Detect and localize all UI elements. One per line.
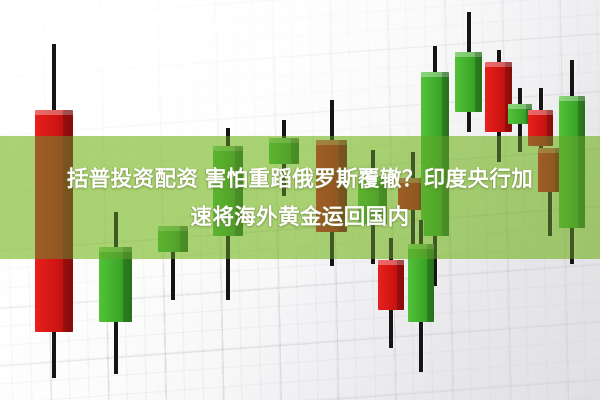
headline-line-1: 括普投资配资 害怕重蹈俄罗斯覆辙？印度央行加: [67, 167, 533, 191]
headline-overlay: 括普投资配资 害怕重蹈俄罗斯覆辙？印度央行加 速将海外黄金运回国内: [0, 160, 600, 236]
headline-line-2: 速将海外黄金运回国内: [0, 198, 600, 236]
banner-canvas: 括普投资配资 害怕重蹈俄罗斯覆辙？印度央行加 速将海外黄金运回国内: [0, 0, 600, 400]
candle-body: [378, 260, 404, 310]
candle-body: [455, 52, 482, 112]
